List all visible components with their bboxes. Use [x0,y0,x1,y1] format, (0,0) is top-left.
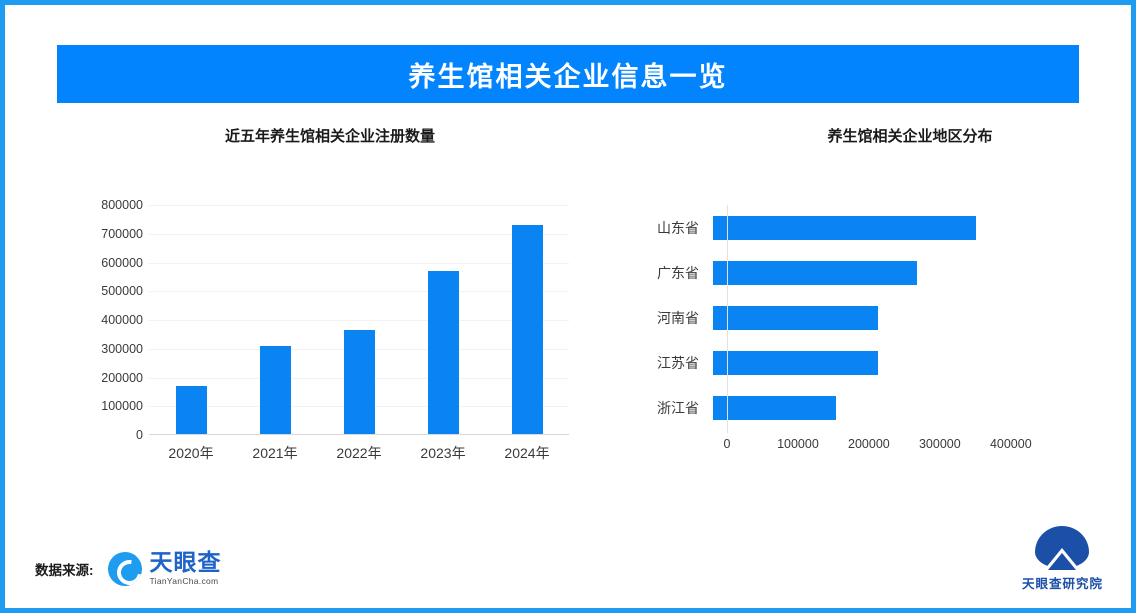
column-chart-x-tick: 2021年 [233,443,317,463]
horizontal-bar-track [713,396,1011,420]
horizontal-bar-row: 江苏省 [625,351,1025,375]
column-chart-bar-slot [485,205,569,435]
column-chart-bar [176,386,207,435]
horizontal-bar-track [713,261,1011,285]
column-chart-bar [512,225,543,435]
column-chart-y-tick: 400000 [65,313,143,327]
horizontal-bar-x-tick: 100000 [777,437,819,451]
chart-panel-distribution: 养生馆相关企业地区分布 山东省广东省河南省江苏省浙江省 010000020000… [625,125,1085,515]
column-chart-plot-area [149,205,569,435]
data-source-label: 数据来源: [35,559,94,579]
horizontal-bar-row: 浙江省 [625,396,1025,420]
horizontal-bar-track [713,216,1011,240]
horizontal-bar-chart: 山东省广东省河南省江苏省浙江省 010000020000030000040000… [625,205,1085,485]
column-chart-x-axis: 2020年2021年2022年2023年2024年 [149,443,569,463]
institute-dome-inner [1048,553,1076,570]
column-chart-bar-slot [401,205,485,435]
infographic-page: 养生馆相关企业信息一览 近五年养生馆相关企业注册数量 0100000200000… [0,0,1136,613]
column-chart-y-tick: 800000 [65,198,143,212]
column-chart-x-tick: 2020年 [149,443,233,463]
column-chart-baseline [149,434,569,435]
horizontal-bar-fill [713,216,976,240]
horizontal-bar-x-axis: 0100000200000300000400000 [727,437,1025,457]
horizontal-bar-fill [713,351,878,375]
horizontal-bar-category-label: 河南省 [625,308,713,328]
horizontal-bar-x-tick: 0 [724,437,731,451]
institute-dome-icon [1035,526,1089,570]
institute-logo: 天眼查研究院 [1022,526,1103,592]
horizontal-bar-track [713,306,1011,330]
column-chart-bar-slot [149,205,233,435]
column-chart-bars [149,205,569,435]
tianyancha-wordmark: 天眼查 TianYanCha.com [150,551,222,586]
column-chart-bar [344,330,375,435]
column-chart-y-tick: 300000 [65,342,143,356]
horizontal-bar-row: 广东省 [625,261,1025,285]
column-chart-x-tick: 2024年 [485,443,569,463]
horizontal-bar-category-label: 广东省 [625,263,713,283]
tianyancha-logo: 天眼查 TianYanCha.com [108,551,222,586]
column-chart-x-tick: 2023年 [401,443,485,463]
horizontal-bar-rows: 山东省广东省河南省江苏省浙江省 [625,205,1025,430]
horizontal-bar-row: 河南省 [625,306,1025,330]
chart-panel-registrations: 近五年养生馆相关企业注册数量 0100000200000300000400000… [65,125,585,515]
data-source: 数据来源: 天眼查 TianYanCha.com [35,551,222,586]
horizontal-bar-x-tick: 300000 [919,437,961,451]
column-chart-y-tick: 700000 [65,227,143,241]
institute-name: 天眼查研究院 [1022,573,1103,592]
horizontal-bar-category-label: 山东省 [625,218,713,238]
column-chart-y-axis: 0100000200000300000400000500000600000700… [65,205,143,435]
tianyancha-eye-icon [108,552,142,586]
column-chart-y-tick: 0 [65,428,143,442]
column-chart-y-tick: 500000 [65,284,143,298]
column-chart-bar-slot [233,205,317,435]
horizontal-bar-axis-line [727,205,728,433]
horizontal-bar-category-label: 江苏省 [625,353,713,373]
column-chart-y-tick: 200000 [65,371,143,385]
header-banner: 养生馆相关企业信息一览 [57,45,1079,103]
column-chart: 0100000200000300000400000500000600000700… [65,205,585,475]
column-chart-bar [428,271,459,435]
page-title: 养生馆相关企业信息一览 [409,55,728,94]
horizontal-bar-fill [713,306,878,330]
horizontal-bar-x-tick: 400000 [990,437,1032,451]
column-chart-bar [260,346,291,435]
column-chart-y-tick: 600000 [65,256,143,270]
horizontal-bar-row: 山东省 [625,216,1025,240]
tianyancha-name-cn: 天眼查 [150,551,222,574]
horizontal-bar-x-tick: 200000 [848,437,890,451]
horizontal-bar-track [713,351,1011,375]
column-chart-x-tick: 2022年 [317,443,401,463]
chart-title-registrations: 近五年养生馆相关企业注册数量 [75,125,585,146]
column-chart-bar-slot [317,205,401,435]
horizontal-bar-category-label: 浙江省 [625,398,713,418]
chart-title-distribution: 养生馆相关企业地区分布 [735,125,1085,146]
column-chart-y-tick: 100000 [65,399,143,413]
horizontal-bar-fill [713,396,836,420]
tianyancha-name-en: TianYanCha.com [150,576,222,586]
horizontal-bar-fill [713,261,917,285]
